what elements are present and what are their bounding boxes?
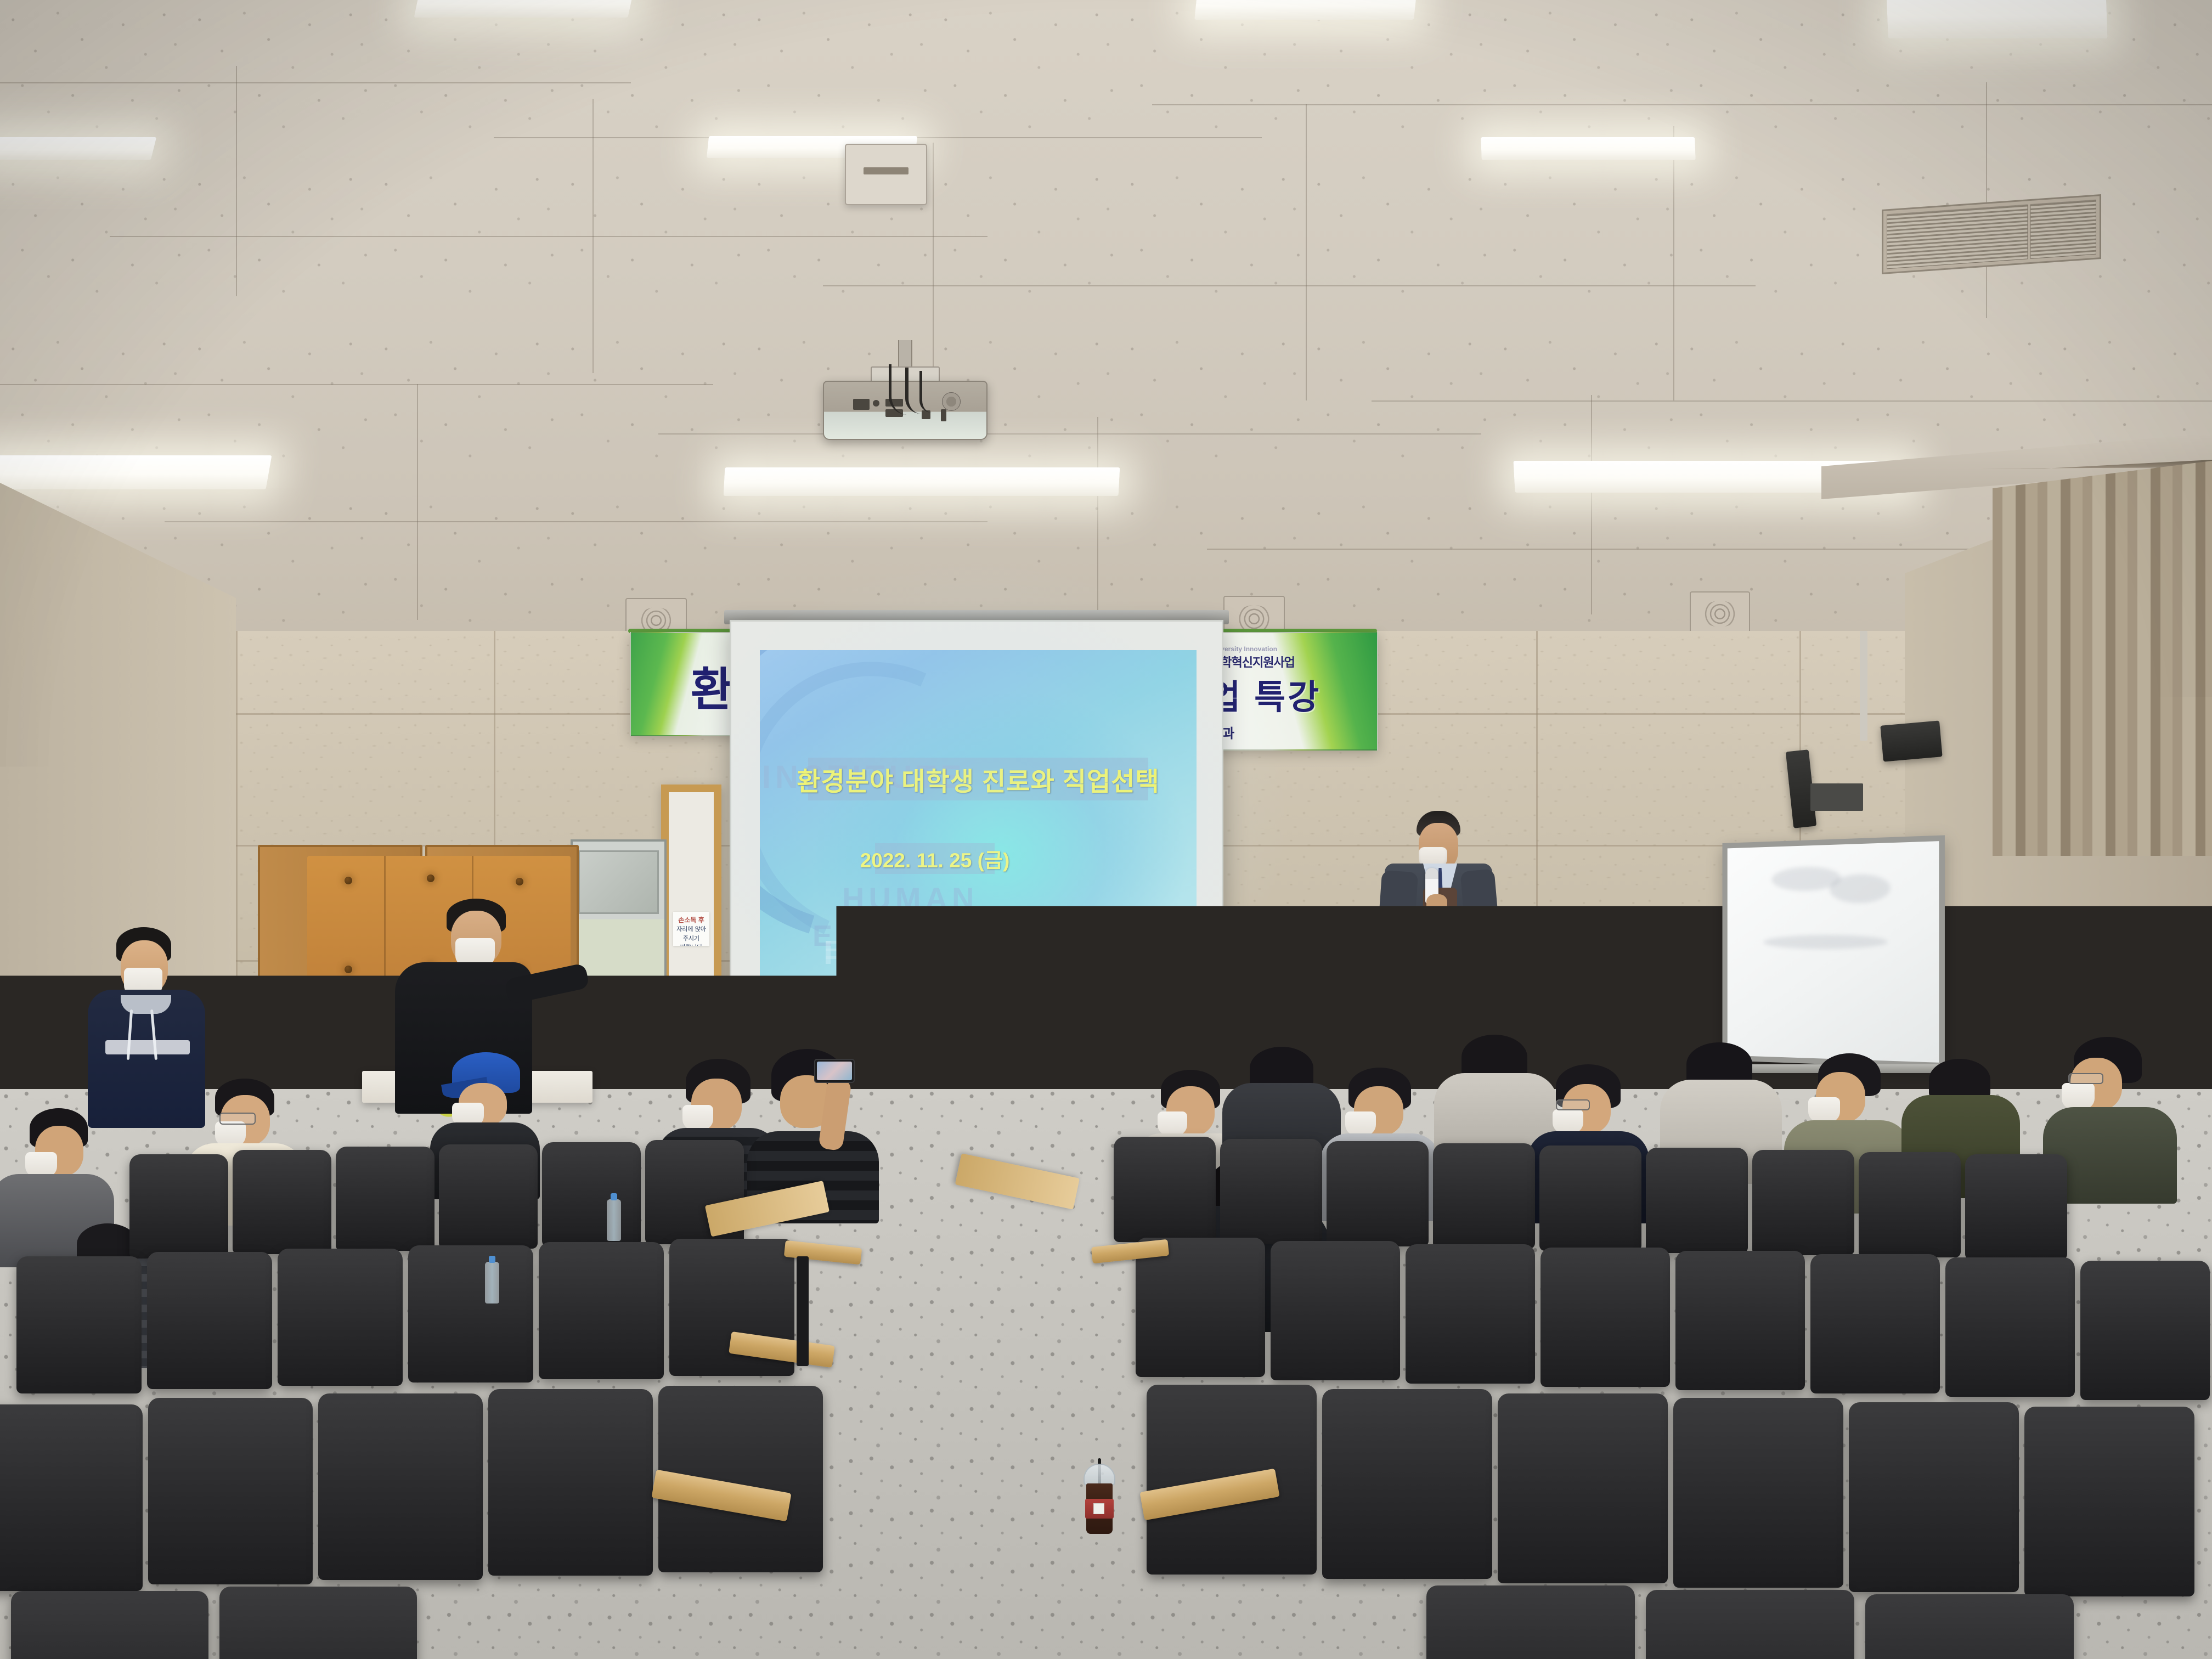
smoke-detector	[845, 144, 927, 205]
auditorium-seat[interactable]	[1810, 1254, 1940, 1393]
auditorium-seat[interactable]	[147, 1252, 272, 1389]
projection-screen: INSTITUTE HUMAN ENVIRONMENT 환경분야 대학생 진로와…	[730, 620, 1223, 1009]
auditorium-seat[interactable]	[336, 1147, 435, 1251]
auditorium-seat[interactable]	[539, 1242, 664, 1379]
armrest-post	[1147, 1255, 1159, 1365]
audience-member	[2052, 1037, 2172, 1180]
auditorium-seat[interactable]	[408, 1245, 533, 1383]
auditorium-seat[interactable]	[1433, 1143, 1535, 1249]
auditorium-seat[interactable]	[1849, 1402, 2019, 1592]
wall-speaker-right	[1880, 720, 1942, 761]
slide-title-box: 환경분야 대학생 진로와 직업선택	[808, 758, 1148, 800]
water-bottle[interactable]	[607, 1199, 621, 1241]
ceiling-light	[0, 455, 272, 489]
auditorium-seat[interactable]	[16, 1256, 142, 1393]
auditorium-seat[interactable]	[11, 1591, 208, 1659]
auditorium-seat[interactable]	[1965, 1154, 2067, 1260]
auditorium-seat[interactable]	[0, 1404, 143, 1591]
notice-board: 손소독 후 자리에 앉아 주시기 바랍니다	[661, 785, 721, 988]
notice-paper: 손소독 후 자리에 앉아 주시기 바랍니다	[673, 912, 709, 946]
banner-right: University Innovation 대학혁신지원사업 업 특강 학과	[1197, 632, 1378, 751]
auditorium-seat[interactable]	[1646, 1148, 1748, 1253]
auditorium-seat[interactable]	[233, 1150, 331, 1254]
armrest-post	[797, 1256, 809, 1366]
auditorium-seat[interactable]	[148, 1398, 313, 1584]
slide-date-box: 2022. 11. 25 (금)	[875, 843, 995, 874]
auditorium-seat[interactable]	[1541, 1248, 1670, 1387]
slide-title: 환경분야 대학생 진로와 직업선택	[797, 760, 1160, 798]
auditorium-seat[interactable]	[1406, 1244, 1535, 1384]
notice-line-1: 손소독 후	[675, 915, 707, 925]
banner-left-text: 환	[691, 653, 733, 719]
notice-line-2: 자리에 앉아 주시기	[675, 925, 707, 943]
window-curtain[interactable]	[1993, 461, 2212, 856]
podium-top-surface	[1345, 919, 1504, 945]
auditorium-seat[interactable]	[1752, 1150, 1854, 1255]
whiteboard[interactable]	[1722, 835, 1944, 1068]
partition-window	[578, 850, 659, 914]
auditorium-seat[interactable]	[1322, 1389, 1492, 1579]
auditorium-seat[interactable]	[1673, 1398, 1843, 1588]
auditorium-seat[interactable]	[1539, 1145, 1641, 1251]
ceiling-light	[414, 0, 634, 18]
auditorium-seat[interactable]	[1327, 1141, 1429, 1246]
auditorium-seat[interactable]	[318, 1393, 483, 1580]
air-diffuser	[1690, 591, 1750, 636]
auditorium-seat[interactable]	[488, 1389, 653, 1576]
lecture-hall-photo: 환 University Innovation 대학혁신지원사업 업 특강 학과…	[0, 0, 2212, 1659]
auditorium-seat[interactable]	[1945, 1257, 2075, 1397]
auditorium-seat[interactable]	[439, 1144, 538, 1249]
speaker-mount-pole	[1860, 631, 1867, 741]
notice-line-3: 바랍니다	[675, 943, 707, 946]
auditorium-seat[interactable]	[1675, 1251, 1805, 1390]
slide-ghost-human: HUMAN	[842, 881, 978, 916]
room-partition	[571, 839, 667, 1020]
slide-company: (주)중앙환경기술단	[882, 913, 1005, 935]
auditorium-seat[interactable]	[2080, 1261, 2210, 1400]
ceiling	[0, 0, 2212, 653]
auditorium-seat[interactable]	[1646, 1590, 1854, 1659]
ceiling-texture	[0, 0, 2212, 653]
ceiling-light	[1194, 0, 1417, 20]
speaker-bracket	[1810, 783, 1863, 811]
auditorium-seat[interactable]	[1114, 1137, 1216, 1242]
slide-presenter: 도 제 상	[1008, 912, 1076, 936]
auditorium-seat[interactable]	[542, 1142, 641, 1246]
ceiling-light	[1481, 137, 1695, 160]
auditorium-seat[interactable]	[1498, 1393, 1668, 1583]
auditorium-seat[interactable]	[1865, 1594, 2074, 1659]
iced-coffee-cup[interactable]	[1084, 1464, 1115, 1534]
ceiling-projector	[823, 340, 988, 448]
slide-decor-dots	[826, 941, 1078, 964]
banner-title: 업 특강	[1209, 669, 1321, 719]
slide-date: 2022. 11. 25 (금)	[860, 844, 1010, 873]
auditorium-seat[interactable]	[1271, 1241, 1400, 1380]
ceiling-light	[724, 467, 1120, 496]
water-bottle[interactable]	[485, 1262, 499, 1304]
ceiling-light	[0, 137, 156, 160]
auditorium-seat[interactable]	[2024, 1407, 2194, 1596]
auditorium-seat[interactable]	[1220, 1139, 1322, 1244]
auditorium-seat[interactable]	[1426, 1585, 1635, 1659]
banner-left: 환	[630, 632, 743, 736]
ceiling-light	[1886, 0, 2107, 38]
presentation-slide: INSTITUTE HUMAN ENVIRONMENT 환경분야 대학생 진로와…	[760, 650, 1197, 978]
audience-member	[11, 1108, 121, 1240]
auditorium-seat[interactable]	[278, 1249, 403, 1386]
smartphone[interactable]	[814, 1059, 855, 1083]
auditorium-seat[interactable]	[219, 1587, 417, 1659]
auditorium-seat[interactable]	[1859, 1152, 1961, 1257]
auditorium-seat[interactable]	[129, 1154, 228, 1259]
